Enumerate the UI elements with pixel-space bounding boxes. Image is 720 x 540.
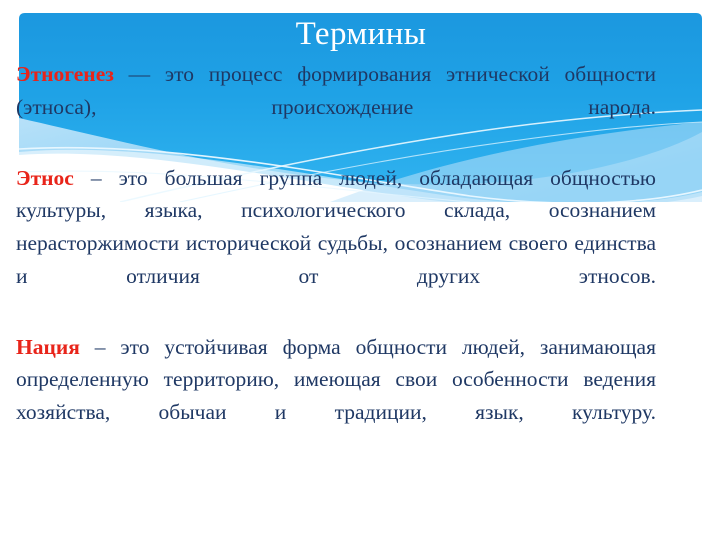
definition-text: – это большая группа людей, обладающая о… (16, 166, 656, 288)
term-label: Этнос (16, 166, 74, 190)
term-label: Этногенез (16, 62, 114, 86)
slide-content: Термины Этногенез — это процесс формиров… (0, 0, 720, 540)
slide-canvas: Термины Этногенез — это процесс формиров… (0, 0, 720, 540)
term-label: Нация (16, 335, 80, 359)
definition-text: – это устойчивая форма общности людей, з… (16, 335, 656, 424)
definition-paragraph: Этнос – это большая группа людей, облада… (16, 162, 656, 325)
definition-paragraph: Этногенез — это процесс формирования этн… (16, 58, 656, 156)
page-title: Термины (20, 14, 702, 54)
definitions-list: Этногенез — это процесс формирования этн… (16, 58, 656, 461)
definition-paragraph: Нация – это устойчивая форма общности лю… (16, 331, 656, 461)
